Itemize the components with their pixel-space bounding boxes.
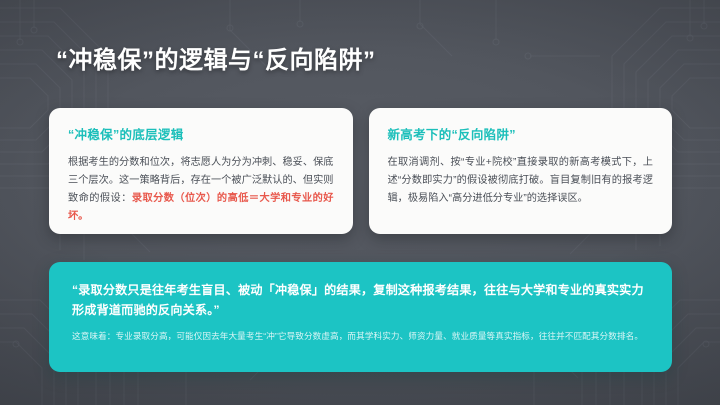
card-body: 根据考生的分数和位次，将志愿人为分为冲刺、稳妥、保底三个层次。这一策略背后，存在… [68, 154, 334, 227]
card-underlying-logic: “冲稳保”的底层逻辑 根据考生的分数和位次，将志愿人为分为冲刺、稳妥、保底三个层… [49, 108, 353, 234]
card-title: “冲稳保”的底层逻辑 [68, 128, 334, 143]
page-title: “冲稳保”的逻辑与“反向陷阱” [56, 40, 376, 75]
conclusion-note: 这意味着：专业录取分高，可能仅因去年大量考生“冲”它导致分数虚高，而其学科实力、… [72, 330, 649, 344]
conclusion-quote: “录取分数只是往年考生盲目、被动「冲稳保」的结果，复制这种报考结果，往往与大学和… [72, 281, 649, 320]
card-reverse-trap: 新高考下的“反向陷阱” 在取消调剂、按“专业+院校”直接录取的新高考模式下，上述… [369, 108, 673, 234]
slide-root: “冲稳保”的逻辑与“反向陷阱” “冲稳保”的底层逻辑 根据考生的分数和位次，将志… [0, 0, 720, 405]
conclusion-panel: “录取分数只是往年考生盲目、被动「冲稳保」的结果，复制这种报考结果，往往与大学和… [49, 262, 672, 372]
card-title: 新高考下的“反向陷阱” [388, 128, 654, 143]
card-body: 在取消调剂、按“专业+院校”直接录取的新高考模式下，上述“分数即实力”的假设被彻… [388, 154, 654, 208]
cards-row: “冲稳保”的底层逻辑 根据考生的分数和位次，将志愿人为分为冲刺、稳妥、保底三个层… [49, 108, 672, 234]
card-body-text: 在取消调剂、按“专业+院校”直接录取的新高考模式下，上述“分数即实力”的假设被彻… [388, 157, 654, 204]
